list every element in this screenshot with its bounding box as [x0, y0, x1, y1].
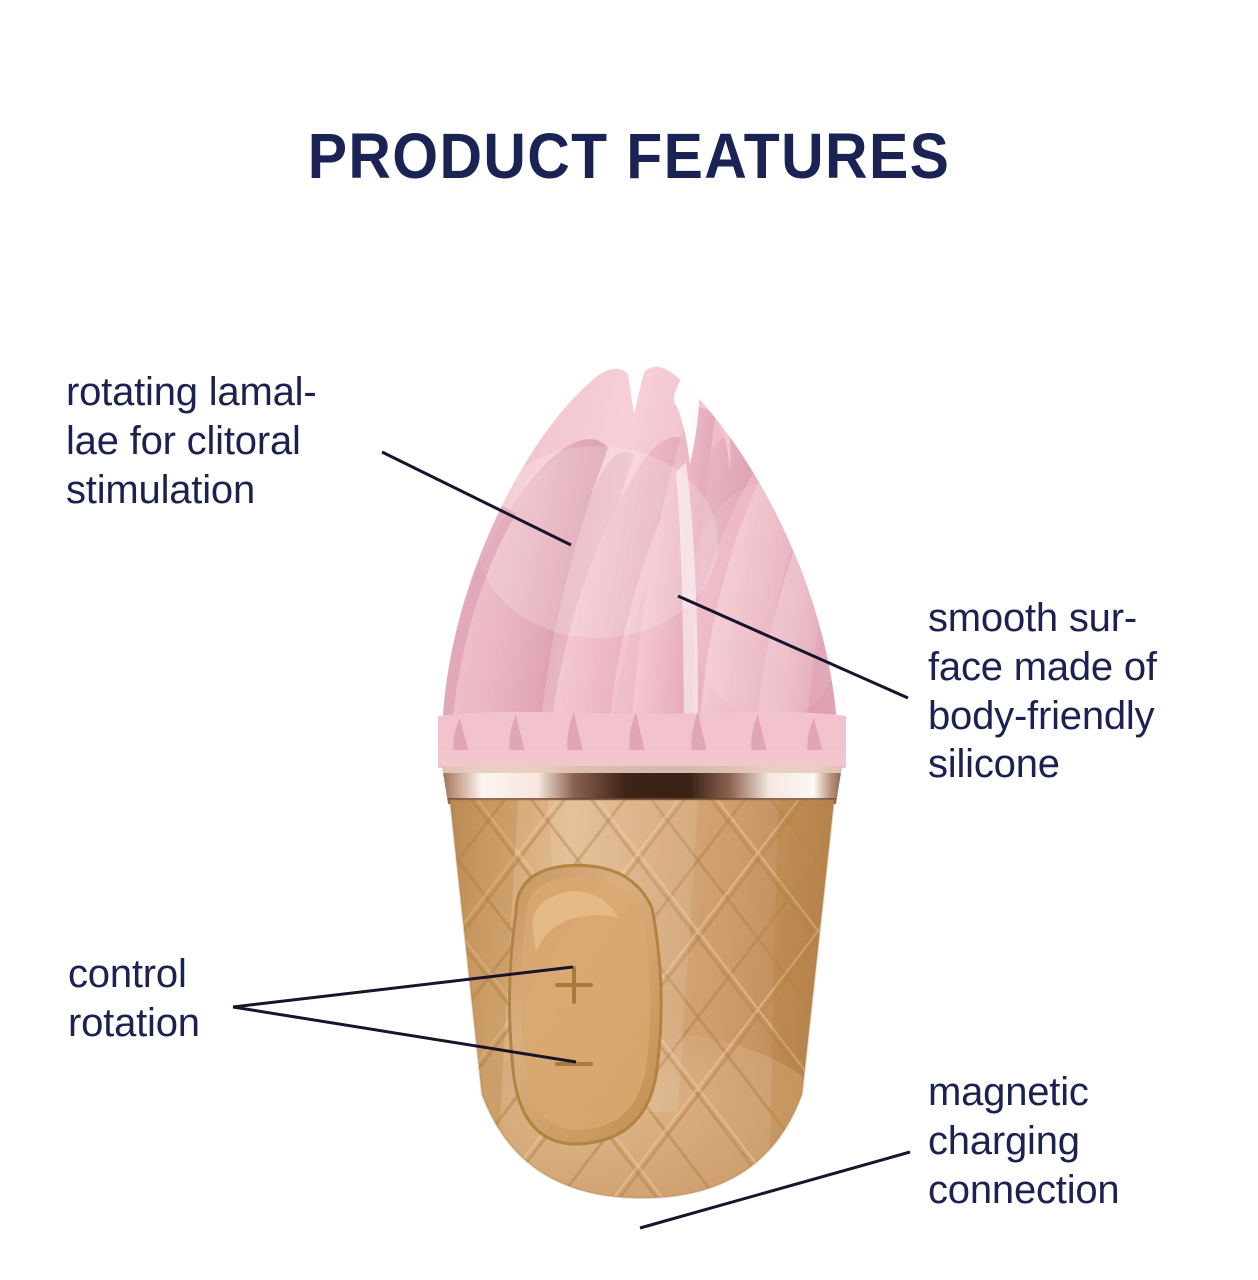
metal-band	[442, 766, 842, 804]
callout-label-control-rotation: control rotation	[68, 950, 348, 1048]
callout-label-smooth-surface: smooth sur- face made of body-friendly s…	[928, 594, 1248, 789]
swirl-skirt	[438, 712, 846, 768]
page-title: PRODUCT FEATURES	[50, 124, 1207, 188]
callout-label-rotating-lamellae: rotating lamal- lae for clitoral stimula…	[66, 368, 426, 514]
cone-body	[398, 782, 886, 1252]
product-illustration	[398, 352, 886, 1252]
callout-label-magnetic-charging: magnetic charging connection	[928, 1068, 1228, 1214]
product-features-infographic: PRODUCT FEATURES	[0, 0, 1258, 1280]
control-panel-oval	[509, 865, 661, 1144]
swirl-head	[428, 356, 874, 764]
